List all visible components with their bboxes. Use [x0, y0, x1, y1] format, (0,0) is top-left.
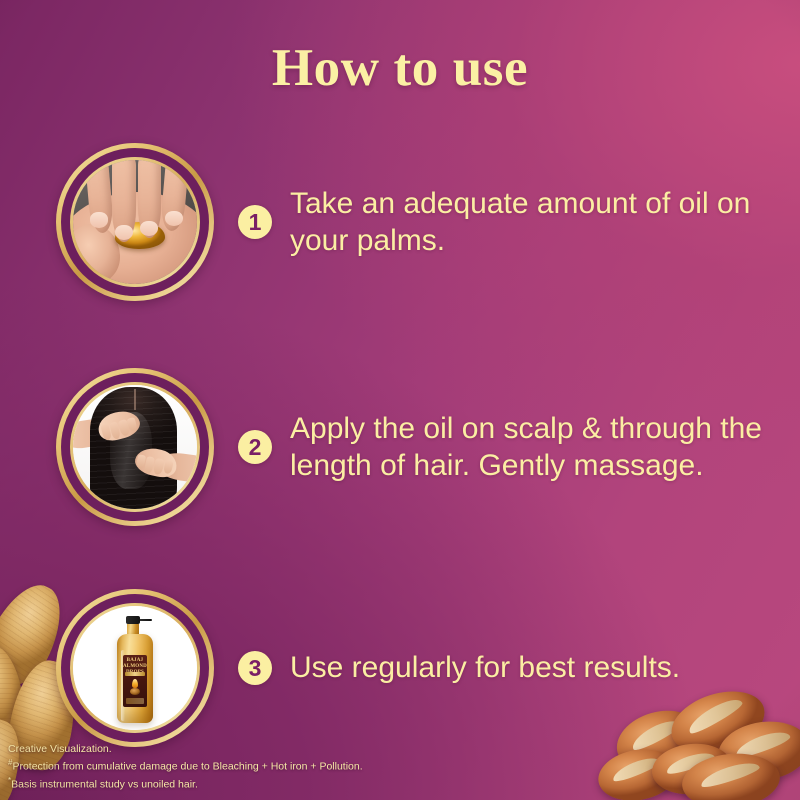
nut-icon — [130, 688, 140, 695]
hand-with-oil-drop-photo — [73, 160, 197, 284]
step-text-2: Apply the oil on scalp & through the len… — [290, 410, 776, 485]
step-row-2: 2 Apply the oil on scalp & through the l… — [0, 367, 800, 527]
step-text-1: Take an adequate amount of oil on your p… — [290, 185, 776, 260]
almond-drops-bottle-icon: BAJAJ ALMOND DROPS — [115, 616, 155, 723]
step-3-thumbnail: BAJAJ ALMOND DROPS — [56, 589, 214, 747]
footnote-text: Creative Visualization. — [8, 743, 112, 755]
step-1-thumbnail — [56, 143, 214, 301]
footnotes: Creative Visualization. #Protection from… — [8, 742, 363, 792]
step-number-badge-3: 3 — [238, 651, 272, 685]
footnote-text: Protection from cumulative damage due to… — [12, 761, 362, 773]
bottle-brand-line-2: ALMOND — [123, 664, 147, 669]
hair-massage-photo — [73, 385, 197, 509]
footnote-line: *Basis instrumental study vs unoiled hai… — [8, 775, 363, 792]
footnote-text: Basis instrumental study vs unoiled hair… — [11, 778, 198, 790]
step-row-3: BAJAJ ALMOND DROPS 3 Use regularly for b — [0, 588, 800, 748]
footnote-line: #Protection from cumulative damage due t… — [8, 757, 363, 774]
step-number-badge-1: 1 — [238, 205, 272, 239]
step-number-badge-2: 2 — [238, 430, 272, 464]
how-to-use-poster: How to use 1 Take an adequate amount of … — [0, 0, 800, 800]
bottle-brand-line-1: BAJAJ — [127, 658, 144, 663]
flame-icon — [132, 679, 138, 688]
step-row-1: 1 Take an adequate amount of oil on your… — [0, 142, 800, 302]
product-bottle-photo: BAJAJ ALMOND DROPS — [73, 606, 197, 730]
footnote-line: Creative Visualization. — [8, 742, 363, 757]
step-text-3: Use regularly for best results. — [290, 649, 680, 687]
page-title: How to use — [0, 38, 800, 98]
step-2-thumbnail — [56, 368, 214, 526]
